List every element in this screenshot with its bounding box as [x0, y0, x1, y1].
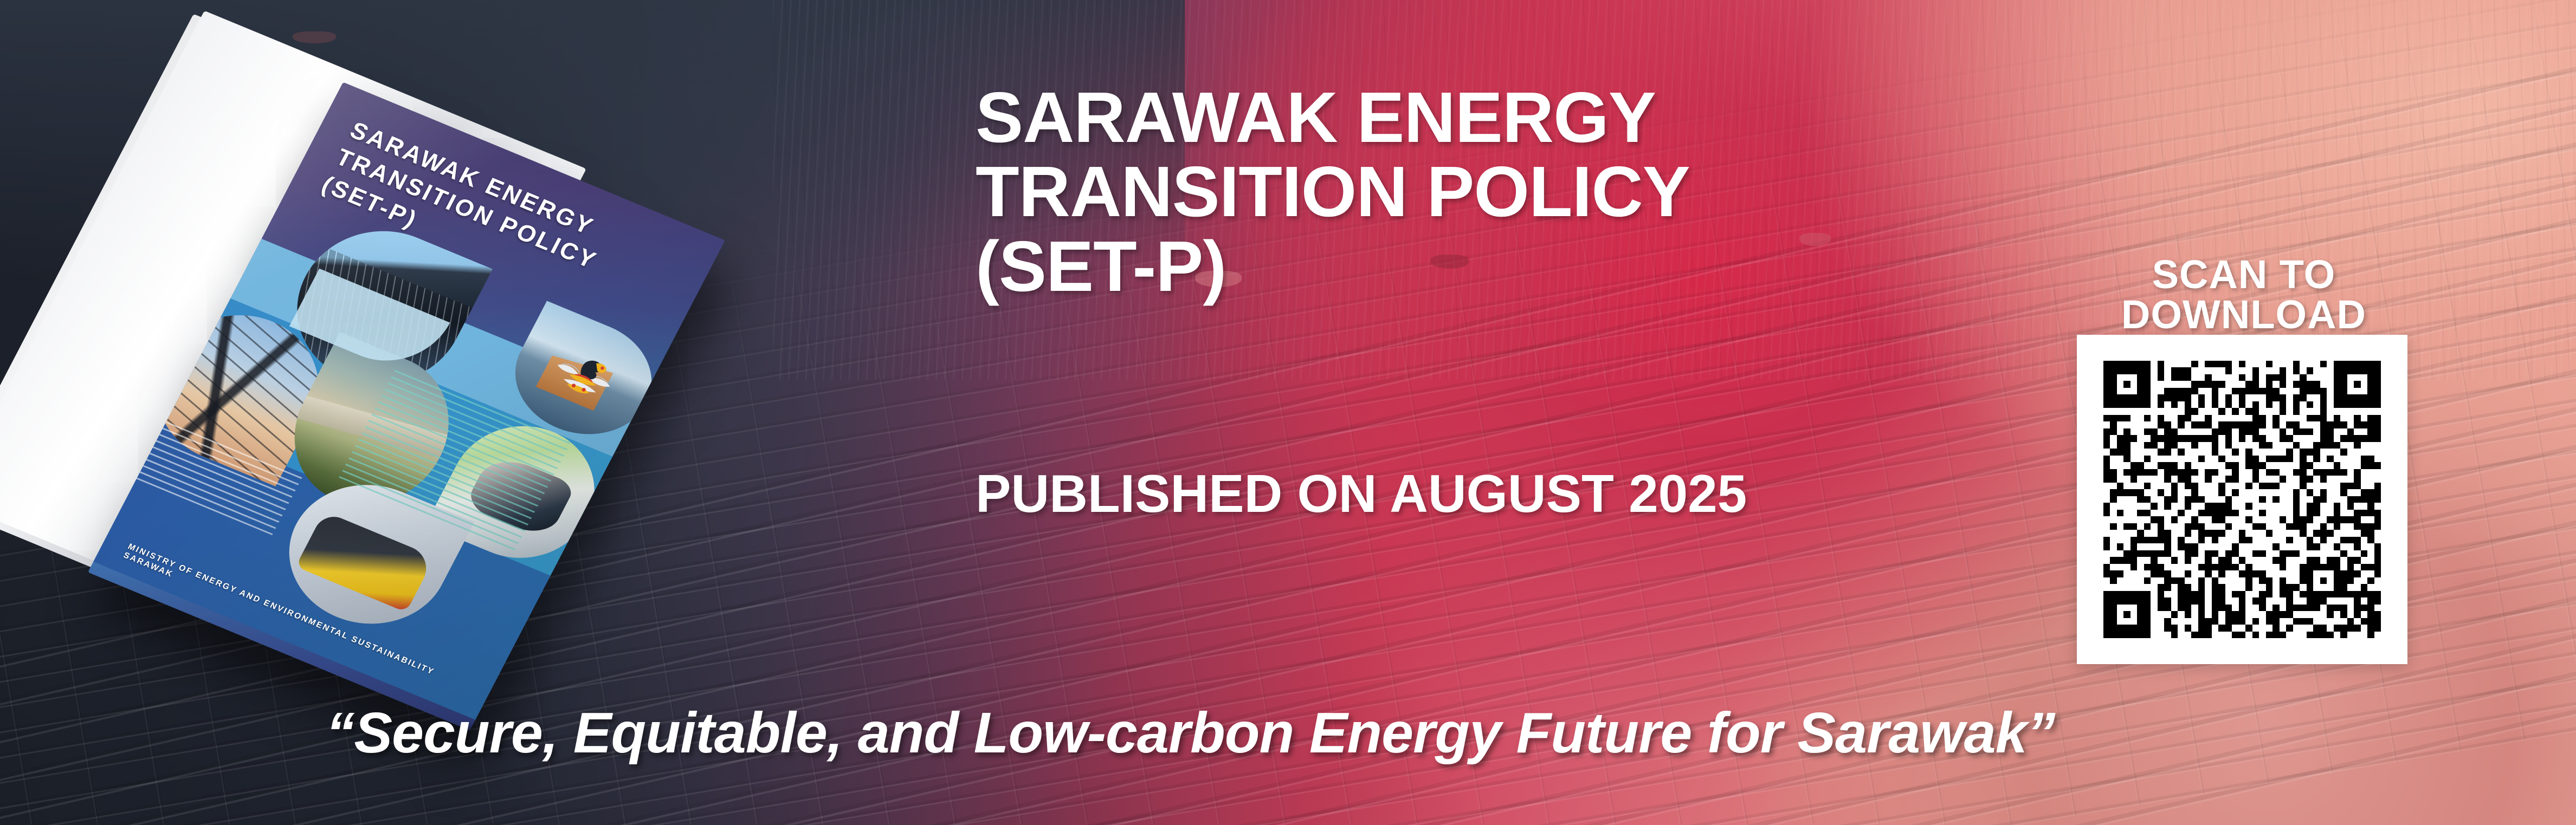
- scan-to-download-label: SCAN TO DOWNLOAD: [2038, 255, 2450, 335]
- qr-code-panel[interactable]: [2077, 335, 2407, 664]
- tagline: “Secure, Equitable, and Low-carbon Energ…: [0, 704, 2576, 762]
- headline-line-2: (SET-P): [976, 229, 2059, 303]
- publication-date: PUBLISHED ON AUGUST 2025: [976, 467, 1747, 520]
- qr-code[interactable]: [2103, 361, 2381, 638]
- headline-line-1: SARAWAK ENERGY TRANSITION POLICY: [976, 80, 2059, 229]
- book-mockup: SARAWAK ENERGY TRANSITION POLICY (SET-P): [76, 54, 845, 628]
- setp-promo-banner: SARAWAK ENERGY TRANSITION POLICY (SET-P): [0, 0, 2576, 825]
- page-title: SARAWAK ENERGY TRANSITION POLICY (SET-P): [976, 80, 2059, 303]
